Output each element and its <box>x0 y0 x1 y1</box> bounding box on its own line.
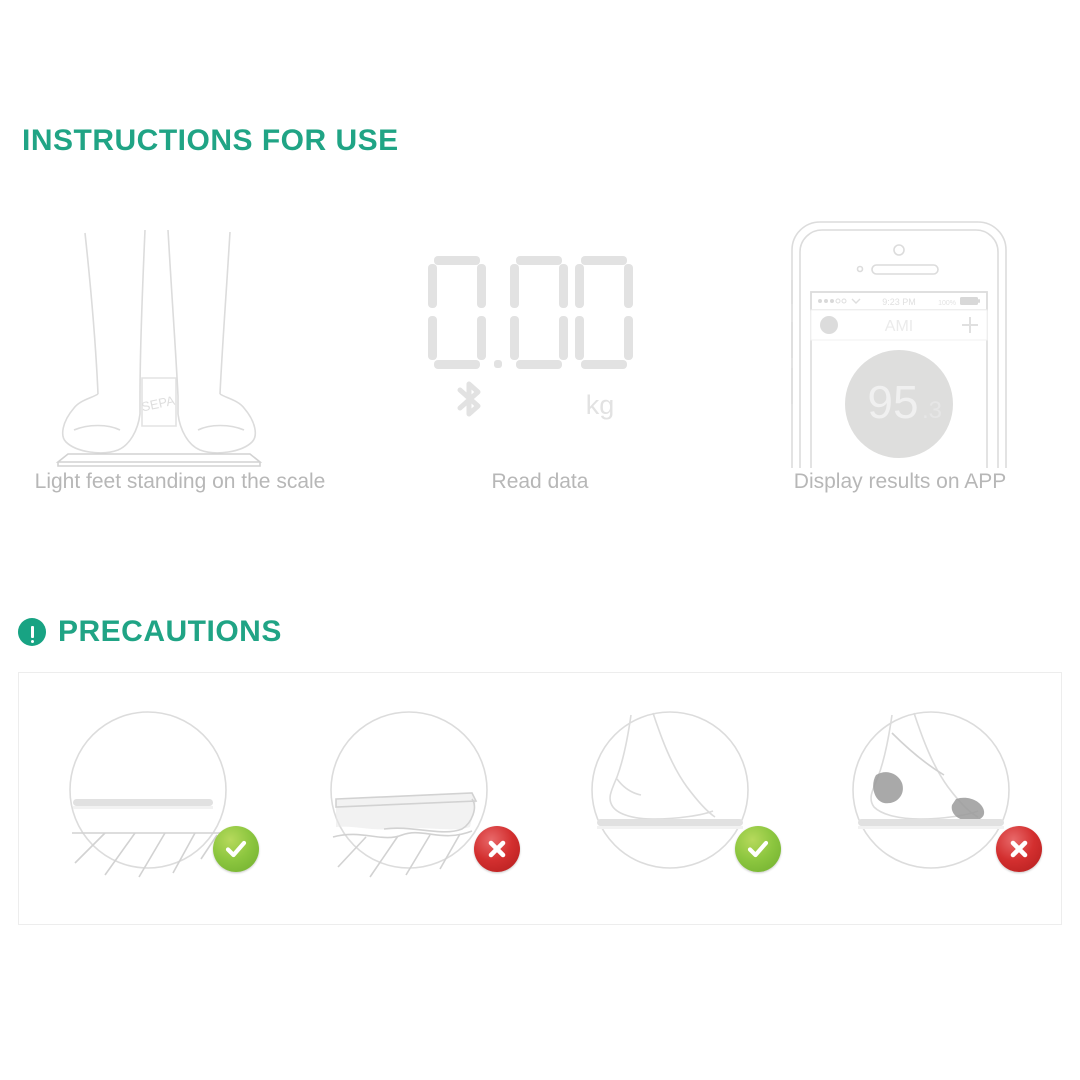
check-circle-icon <box>213 826 259 872</box>
instruction-step-read: kg Read data <box>360 215 720 535</box>
display-decimal-point <box>494 360 502 368</box>
instruction-step-stand: SEPA Light feet standing on the scale <box>0 215 360 535</box>
precaution-hard-floor <box>18 690 279 890</box>
smartphone-app-illustration: 9:23 PM 100% AMI <box>720 215 1080 470</box>
cross-circle-icon <box>474 826 520 872</box>
scale-platform-shape <box>73 799 213 806</box>
bluetooth-icon <box>460 384 478 414</box>
phone-battery-percent: 100% <box>938 300 956 307</box>
phone-weight-value: 95 <box>867 376 918 428</box>
alert-circle-icon <box>18 618 46 646</box>
step-caption: Light feet standing on the scale <box>35 470 326 494</box>
precaution-soft-carpet <box>279 690 540 890</box>
phone-weight-decimal: .3 <box>922 397 942 424</box>
display-digit-1 <box>428 256 486 369</box>
precautions-heading: PRECAUTIONS <box>18 615 282 649</box>
feet-on-scale-illustration: SEPA <box>0 215 360 470</box>
scale-platform-shape <box>597 819 743 826</box>
section-title: PRECAUTIONS <box>58 615 282 649</box>
phone-app-header: AMI <box>811 310 987 340</box>
seven-segment-display: kg <box>360 215 720 470</box>
instruction-steps-row: SEPA Light feet standing on the scale <box>0 215 1080 535</box>
display-unit-label: kg <box>586 390 615 420</box>
scale-brand-label: SEPA <box>140 392 176 414</box>
phone-status-time: 9:23 PM <box>882 297 916 307</box>
phone-app-title: AMI <box>885 318 913 335</box>
avatar-dot-icon <box>820 316 838 334</box>
phone-status-bar: 9:23 PM 100% <box>811 292 987 310</box>
instruction-step-app: 9:23 PM 100% AMI <box>720 215 1080 535</box>
display-digit-2 <box>510 256 568 369</box>
precaution-bare-foot <box>540 690 801 890</box>
precaution-socks <box>801 690 1062 890</box>
check-circle-icon <box>735 826 781 872</box>
scale-platform-shape <box>858 819 1004 826</box>
phone-weight-bubble: 95 .3 <box>845 350 953 458</box>
step-caption: Display results on APP <box>794 470 1006 494</box>
step-caption: Read data <box>492 470 589 494</box>
cross-circle-icon <box>996 826 1042 872</box>
display-digit-3 <box>575 256 633 369</box>
page-title: INSTRUCTIONS FOR USE <box>22 124 399 158</box>
precautions-list <box>18 690 1062 890</box>
battery-full-icon <box>960 297 978 305</box>
